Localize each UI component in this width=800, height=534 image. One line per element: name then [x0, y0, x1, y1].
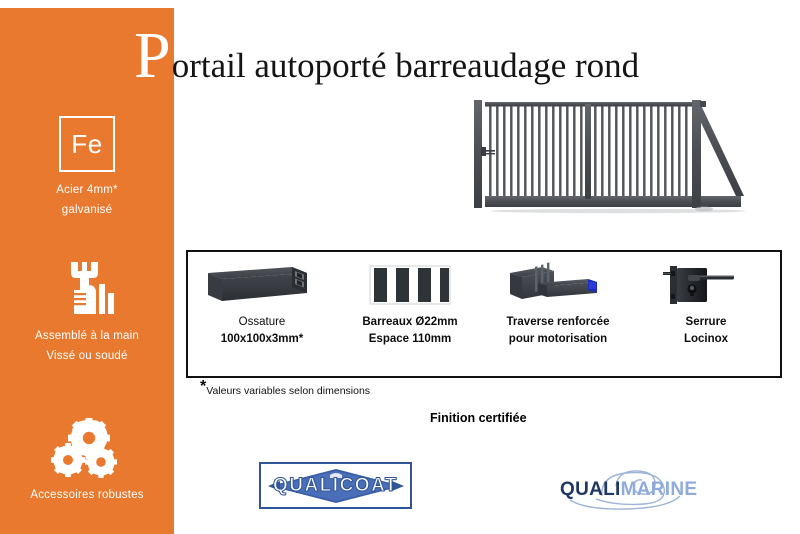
finition-certifiee-label: Finition certifiée	[430, 411, 527, 425]
gate-left-post	[474, 100, 482, 208]
qualicoat-logo: QUALICOAT	[259, 462, 412, 509]
qualicoat-wordmark: QUALICOAT	[266, 467, 406, 505]
sidebar-feature-accessoires-line1: Accessoires robustes	[0, 485, 174, 505]
feature-barreaux-spec: Espace 110mm	[369, 331, 451, 348]
qualimarine-wordmark: QUALIMARINE	[560, 479, 697, 501]
sidebar-feature-assemblage: Assemblé à la main Vissé ou soudé	[0, 254, 174, 366]
page-title-dropcap: P	[134, 27, 171, 85]
feature-serrure-spec: Locinox	[684, 331, 728, 348]
feature-barreaux: Barreaux Ø22mm Espace 110mm	[336, 252, 484, 376]
steel-profile-tube-icon-wrap	[188, 252, 336, 314]
gate-mid-post	[585, 104, 591, 199]
feature-serrure: Serrure Locinox	[632, 252, 780, 376]
cantilever-sliding-gate-drawing	[468, 92, 788, 220]
feature-traverse-spec: pour motorisation	[509, 331, 607, 348]
wrench-hand-assembly-icon	[56, 260, 118, 320]
feature-traverse: Traverse renforcée pour motorisation	[484, 252, 632, 376]
gate-lock-detail	[481, 147, 495, 156]
gate-bottom-beam	[485, 196, 741, 207]
fe-element-square-icon-wrap: Fe	[0, 108, 174, 180]
page-title-rest: ortail autoporté barreaudage rond	[172, 46, 639, 86]
qualimarine-wordmark-primary: QUALI	[560, 479, 621, 500]
qualimarine-logo: QUALIMARINE	[556, 466, 706, 510]
sidebar-feature-acier-line2: galvanisé	[0, 200, 174, 220]
gate-diagonal-joint	[700, 101, 706, 107]
reinforced-crossbar-motorisation-icon	[502, 261, 614, 309]
round-bars-icon	[362, 261, 458, 309]
locinox-lock-icon	[658, 261, 754, 309]
features-box: Ossature 100x100x3mm* Barreaux Ø22mm Esp…	[186, 250, 782, 378]
page-title: P ortail autoporté barreaudage rond	[134, 27, 639, 85]
round-bars-icon-wrap	[336, 252, 484, 314]
sidebar-feature-acier: Fe Acier 4mm* galvanisé	[0, 108, 174, 220]
gears-icon-wrap	[0, 413, 174, 485]
sidebar-feature-acier-line1: Acier 4mm*	[0, 180, 174, 200]
sidebar-feature-assemblage-line2: Vissé ou soudé	[0, 346, 174, 366]
footnote: *Valeurs variables selon dimensions	[200, 381, 370, 399]
fe-element-square-icon: Fe	[59, 116, 115, 172]
gears-icon	[47, 418, 127, 480]
feature-traverse-label: Traverse renforcée	[507, 314, 610, 331]
feature-ossature-spec: 100x100x3mm*	[221, 331, 304, 348]
steel-profile-tube-icon	[206, 261, 318, 309]
product-sheet-page: Fe Acier 4mm* galvanisé	[0, 0, 800, 534]
sidebar-feature-accessoires: Accessoires robustes	[0, 413, 174, 505]
locinox-lock-icon-wrap	[632, 252, 780, 314]
feature-ossature-label: Ossature	[239, 314, 286, 331]
feature-barreaux-label: Barreaux Ø22mm	[362, 314, 457, 331]
feature-serrure-label: Serrure	[686, 314, 727, 331]
wrench-hand-assembly-icon-wrap	[0, 254, 174, 326]
reinforced-crossbar-motorisation-icon-wrap	[484, 252, 632, 314]
footnote-text: Valeurs variables selon dimensions	[206, 385, 370, 397]
gate-roller-shadow	[695, 207, 713, 212]
sidebar-feature-assemblage-line1: Assemblé à la main	[0, 326, 174, 346]
gate-counterweight-diagonal	[695, 103, 744, 196]
feature-ossature: Ossature 100x100x3mm*	[188, 252, 336, 376]
qualimarine-wordmark-secondary: MARINE	[621, 479, 698, 500]
